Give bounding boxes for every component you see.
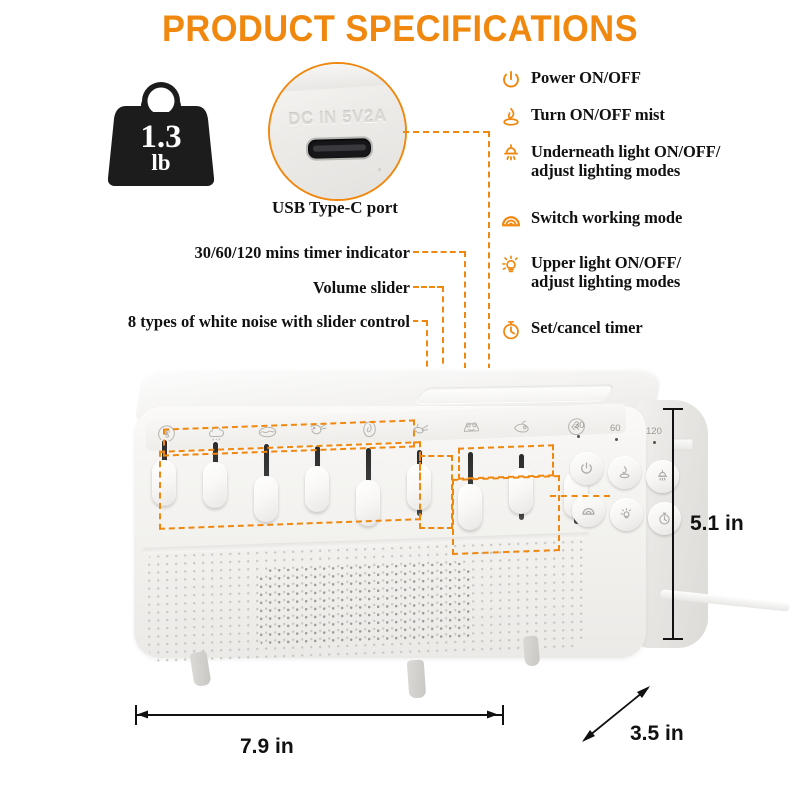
uplight-icon xyxy=(500,254,522,276)
downlight-icon xyxy=(500,143,522,165)
label-timer-indicator: 30/60/120 mins timer indicator xyxy=(60,243,410,263)
label-white-noise: 8 types of white noise with slider contr… xyxy=(40,312,410,332)
callout-underneath-light-line1: Underneath light ON/OFF/ xyxy=(531,142,720,161)
page-title: PRODUCT SPECIFICATIONS xyxy=(28,8,772,50)
button-grid xyxy=(570,452,680,532)
upper-light-button[interactable] xyxy=(610,498,643,531)
usb-port-inset: DC IN 5V2A xyxy=(268,62,407,201)
timer-label-120: 120 xyxy=(646,426,662,437)
callout-upper-light: Upper light ON/OFF/ adjust lighting mode… xyxy=(500,253,681,291)
speaker-grille-center xyxy=(260,562,470,647)
callout-underneath-light: Underneath light ON/OFF/ adjust lighting… xyxy=(500,142,720,180)
weight-badge: 1.3 lb xyxy=(108,66,214,186)
power-icon xyxy=(500,69,522,91)
usb-c-port-icon xyxy=(306,136,374,161)
leader-buttons-right xyxy=(550,495,610,497)
infographic-canvas: PRODUCT SPECIFICATIONS 1.3 lb DC IN 5V2A… xyxy=(0,0,800,800)
dimension-height-label: 5.1 in xyxy=(690,512,744,536)
leader-noise-h xyxy=(413,320,427,322)
underneath-light-button[interactable] xyxy=(646,460,679,493)
timer-led-120 xyxy=(653,441,656,444)
callout-upper-light-label: Upper light ON/OFF/ adjust lighting mode… xyxy=(531,253,681,291)
dimension-cap-height-top xyxy=(663,408,683,410)
timer-led-60 xyxy=(615,438,618,441)
timer-button[interactable] xyxy=(648,502,681,535)
callout-mist: Turn ON/OFF mist xyxy=(500,105,665,127)
weight-unit: lb xyxy=(108,151,214,174)
callout-power-label: Power ON/OFF xyxy=(531,68,641,87)
dimension-line-height xyxy=(672,408,674,640)
callout-upper-light-line1: Upper light ON/OFF/ xyxy=(531,253,681,272)
working-mode-button[interactable] xyxy=(572,494,605,527)
dimension-width-label: 7.9 in xyxy=(240,735,294,759)
callout-power: Power ON/OFF xyxy=(500,68,641,90)
callout-timer: Set/cancel timer xyxy=(500,318,643,340)
highlight-volume-slider xyxy=(419,455,453,529)
usb-inset-screw-dot xyxy=(378,168,381,171)
leader-volume-h xyxy=(413,286,443,288)
highlight-timer-indicator xyxy=(458,444,554,480)
callout-underneath-light-label: Underneath light ON/OFF/ adjust lighting… xyxy=(531,142,720,180)
timer-label-60: 60 xyxy=(610,423,621,434)
timer-indicator-row: 30 60 120 xyxy=(572,420,668,450)
callout-working-mode-label: Switch working mode xyxy=(531,208,682,227)
timer-label-30: 30 xyxy=(574,420,585,431)
callout-underneath-light-line2: adjust lighting modes xyxy=(531,161,680,180)
timer-led-30 xyxy=(577,435,580,438)
callout-working-mode: Switch working mode xyxy=(500,208,682,230)
device-illustration: 30 60 120 xyxy=(120,360,700,720)
label-volume-slider: Volume slider xyxy=(60,278,410,298)
device-side-vent xyxy=(672,438,694,451)
mist-button[interactable] xyxy=(608,456,641,489)
highlight-button-grid xyxy=(452,475,560,555)
working-mode-icon xyxy=(500,209,522,231)
callout-mist-label: Turn ON/OFF mist xyxy=(531,105,665,124)
mist-icon xyxy=(500,106,522,128)
timer-icon xyxy=(500,319,522,341)
dimension-width-arrows xyxy=(130,700,520,732)
power-button[interactable] xyxy=(570,452,603,485)
dimension-depth-label: 3.5 in xyxy=(630,722,684,746)
highlight-noise-sliders xyxy=(159,441,421,530)
leader-usb-horizontal xyxy=(403,131,489,133)
leg-back-right xyxy=(523,635,541,666)
leg-front-right xyxy=(407,659,427,698)
dimension-cap-height-bottom xyxy=(663,638,683,640)
callout-upper-light-line2: adjust lighting modes xyxy=(531,272,680,291)
callout-timer-label: Set/cancel timer xyxy=(531,318,643,337)
usb-port-caption: USB Type-C port xyxy=(245,198,425,218)
leader-timer-h xyxy=(413,251,465,253)
